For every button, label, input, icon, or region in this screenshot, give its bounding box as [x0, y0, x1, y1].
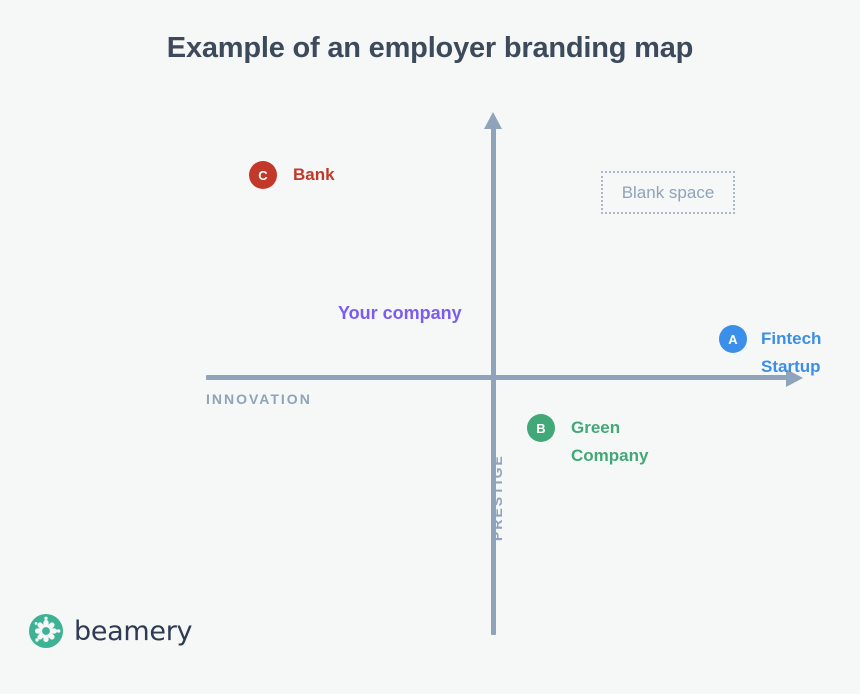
beamery-mark-icon — [29, 614, 63, 648]
data-point-bank[interactable]: C Bank — [249, 161, 335, 189]
marker-badge-b: B — [527, 414, 555, 442]
marker-label-fintech-startup: Fintech Startup — [761, 325, 821, 381]
y-axis-label: PRESTIGE — [489, 454, 505, 541]
data-point-fintech-startup[interactable]: A Fintech Startup — [719, 325, 821, 381]
page-title: Example of an employer branding map — [0, 32, 860, 65]
data-point-green-company[interactable]: B Green Company — [527, 414, 648, 470]
blank-space-label: Blank space — [622, 183, 715, 203]
marker-badge-a: A — [719, 325, 747, 353]
annotation-blank-space: Blank space — [601, 171, 735, 214]
y-axis-line — [491, 127, 496, 635]
marker-label-green-company: Green Company — [571, 414, 648, 470]
marker-label-bank: Bank — [293, 161, 335, 189]
y-axis-arrow-icon — [484, 112, 502, 129]
beamery-logo: beamery — [29, 614, 192, 648]
beamery-wordmark: beamery — [74, 616, 192, 647]
annotation-your-company: Your company — [338, 303, 462, 324]
branding-map-canvas: Example of an employer branding map INNO… — [0, 0, 860, 694]
x-axis-line — [206, 375, 792, 380]
marker-badge-c: C — [249, 161, 277, 189]
x-axis-label: INNOVATION — [206, 391, 312, 407]
